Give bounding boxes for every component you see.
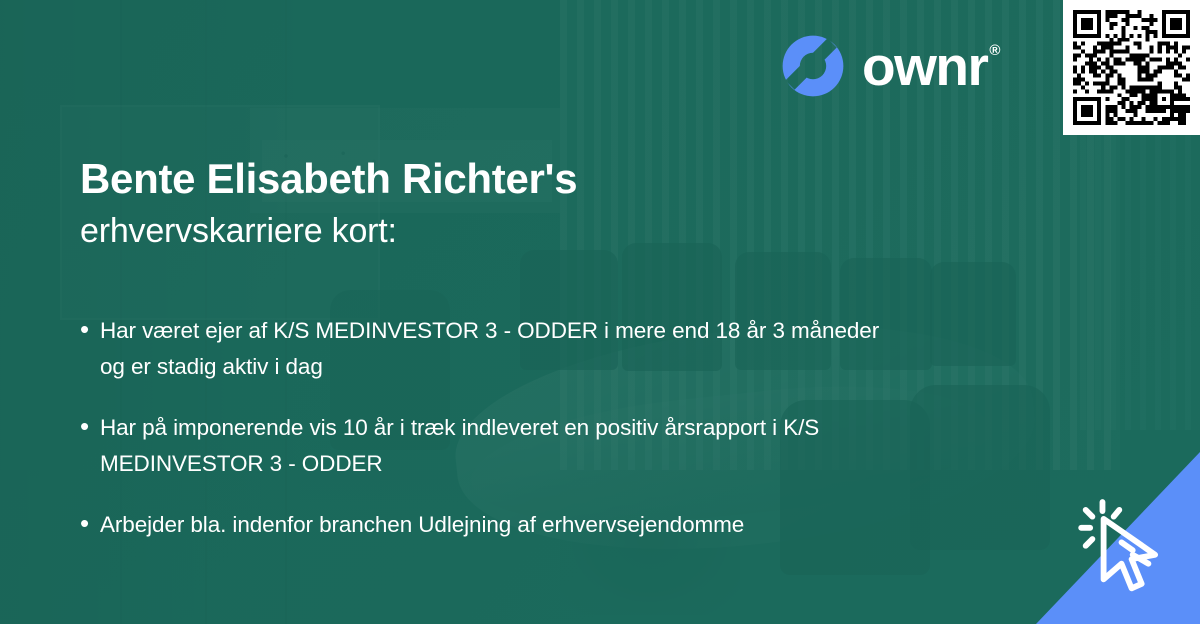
ownr-wordmark-text: ownr — [862, 39, 987, 94]
bullet-point-icon: • — [80, 506, 100, 540]
page-title: Bente Elisabeth Richter's erhvervskarrie… — [80, 155, 940, 253]
career-highlights-list: • Har været ejer af K/S MEDINVESTOR 3 - … — [80, 313, 1060, 567]
list-item-text: Arbejder bla. indenfor branchen Udlejnin… — [100, 507, 744, 543]
bullet-point-icon: • — [80, 312, 100, 346]
click-cursor-icon — [1070, 492, 1182, 604]
page-title-name: Bente Elisabeth Richter's — [80, 155, 940, 204]
registered-trademark-icon: ® — [989, 43, 999, 58]
qr-code[interactable] — [1073, 10, 1190, 125]
ownr-logo[interactable]: ownr ® — [780, 33, 999, 99]
qr-code-panel[interactable] — [1063, 0, 1200, 135]
list-item-text: Har på imponerende vis 10 år i træk indl… — [100, 410, 900, 483]
list-item: • Arbejder bla. indenfor branchen Udlejn… — [80, 507, 1060, 543]
ownr-wordmark: ownr ® — [862, 39, 999, 94]
ownr-circle-logo-icon — [780, 33, 846, 99]
bullet-point-icon: • — [80, 409, 100, 443]
list-item-text: Har været ejer af K/S MEDINVESTOR 3 - OD… — [100, 313, 900, 386]
page-title-subtitle: erhvervskarriere kort: — [80, 209, 940, 253]
list-item: • Har været ejer af K/S MEDINVESTOR 3 - … — [80, 313, 1060, 386]
list-item: • Har på imponerende vis 10 år i træk in… — [80, 410, 1060, 483]
